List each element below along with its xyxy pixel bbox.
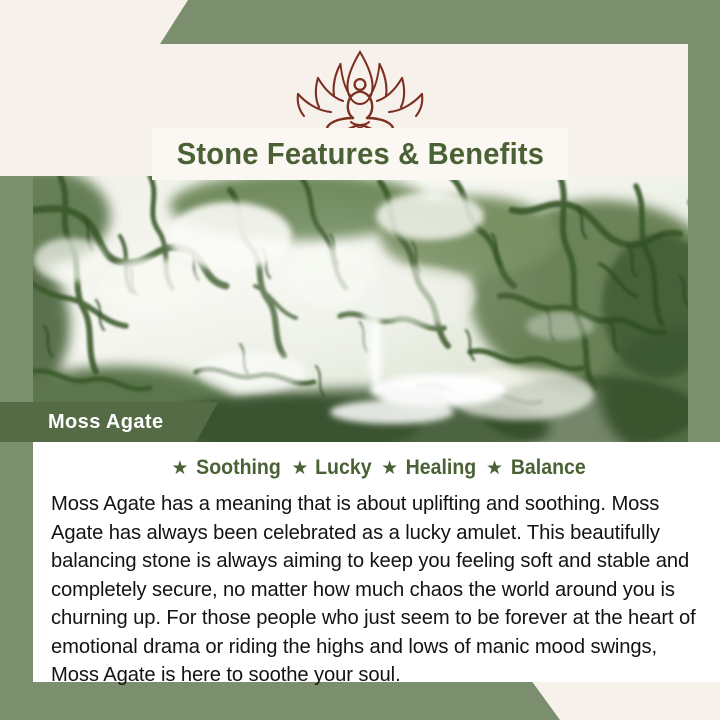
- stone-name: Moss Agate: [0, 411, 164, 434]
- benefit-label: Soothing: [197, 456, 282, 480]
- benefit-label: Lucky: [316, 456, 372, 480]
- benefits-row: ★ Soothing ★ Lucky ★ Healing ★ Balance: [33, 450, 720, 486]
- stone-name-banner: Moss Agate: [0, 402, 218, 442]
- benefit-item: ★ Balance: [479, 456, 589, 480]
- page-title-banner: Stone Features & Benefits: [152, 128, 568, 180]
- star-icon: ★: [291, 459, 308, 478]
- benefit-label: Healing: [406, 456, 477, 480]
- benefit-label: Balance: [511, 456, 586, 480]
- benefit-item: ★ Healing: [374, 456, 479, 480]
- stone-info-panel: ★ Soothing ★ Lucky ★ Healing ★ Balance M…: [33, 442, 720, 682]
- frame-top-band: [0, 0, 720, 44]
- benefit-item: ★ Soothing: [164, 456, 284, 480]
- page-title: Stone Features & Benefits: [176, 136, 543, 172]
- star-icon: ★: [486, 459, 503, 478]
- stone-description: Moss Agate has a meaning that is about u…: [33, 486, 720, 690]
- star-icon: ★: [381, 459, 398, 478]
- star-icon: ★: [171, 459, 188, 478]
- benefit-item: ★ Lucky: [284, 456, 374, 480]
